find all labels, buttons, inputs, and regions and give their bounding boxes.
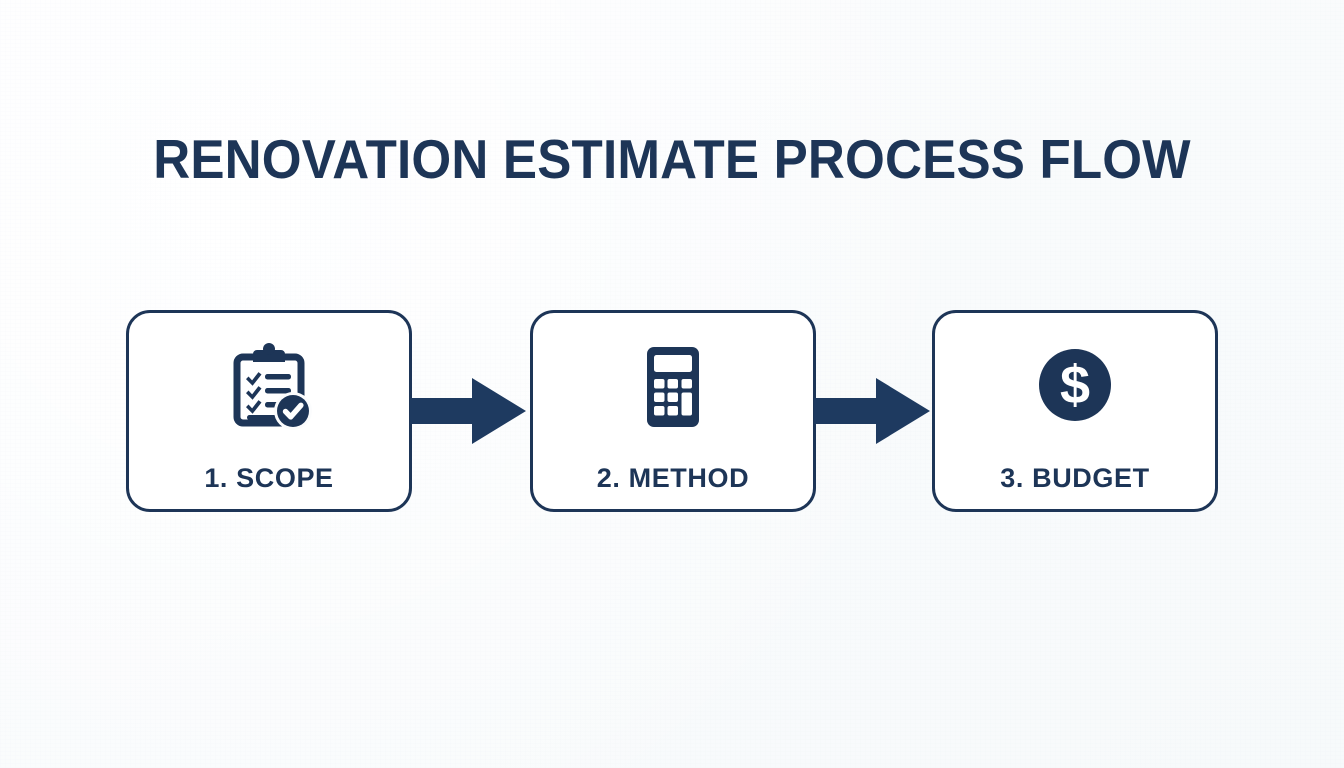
calculator-icon [533,339,813,435]
page-title: RENOVATION ESTIMATE PROCESS FLOW [47,128,1297,190]
arrow-right-icon [814,378,930,444]
arrow-right-icon [410,378,526,444]
dollar-coin-icon: $ [935,339,1215,435]
process-step-label: 1. SCOPE [129,463,409,494]
process-step-label: 3. BUDGET [935,463,1215,494]
slide-canvas: RENOVATION ESTIMATE PROCESS FLOW [0,0,1344,768]
clipboard-checklist-icon [129,339,409,435]
process-step-method[interactable]: 2. METHOD [530,310,816,512]
process-step-label: 2. METHOD [533,463,813,494]
svg-text:$: $ [1060,355,1090,415]
process-flow-diagram: 1. SCOPE [126,310,1218,518]
process-step-budget[interactable]: $ 3. BUDGET [932,310,1218,512]
process-step-scope[interactable]: 1. SCOPE [126,310,412,512]
